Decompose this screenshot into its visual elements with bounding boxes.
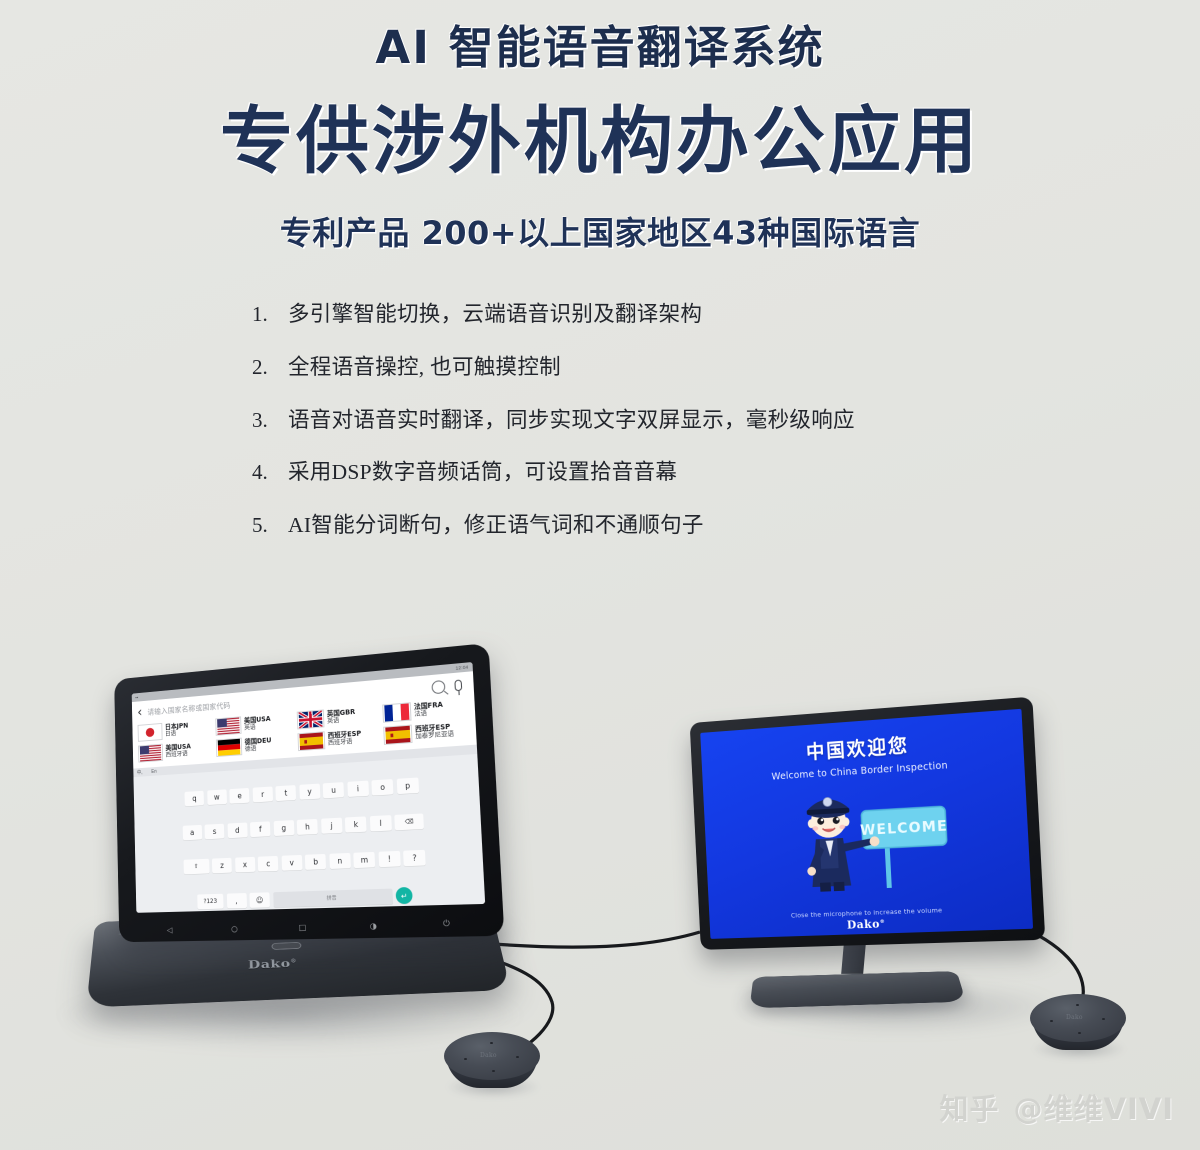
language-name: 法语: [414, 709, 443, 719]
key-y[interactable]: y: [299, 784, 320, 800]
key-b[interactable]: b: [305, 854, 326, 870]
key-e[interactable]: e: [230, 788, 250, 804]
key-p[interactable]: p: [397, 778, 419, 795]
volume-icon[interactable]: ◑: [370, 921, 378, 931]
mic-hole: [1050, 1020, 1053, 1022]
product-photo-stage: Dako® ▪▪ 12:04 ‹ 请输入国家名称或国家代码: [0, 650, 1200, 1150]
mic-hole: [464, 1058, 467, 1060]
microphone-puck[interactable]: Dako: [1030, 994, 1126, 1060]
key-w[interactable]: w: [207, 790, 227, 806]
monitor-screen: 中国欢迎您 Welcome to China Border Inspection…: [700, 709, 1033, 939]
feature-number: 5.: [252, 513, 288, 538]
tablet-body: ▪▪ 12:04 ‹ 请输入国家名称或国家代码: [114, 643, 504, 942]
key-u[interactable]: u: [323, 782, 344, 798]
tablet-screen: ▪▪ 12:04 ‹ 请输入国家名称或国家代码: [132, 662, 485, 913]
list-item: 4. 采用DSP数字音频话筒，可设置拾音音幕: [252, 460, 1042, 486]
key-j[interactable]: j: [321, 818, 342, 834]
back-chevron-icon[interactable]: ‹: [137, 706, 142, 720]
language-name: 西班牙语: [328, 738, 362, 748]
language-name: 德语: [245, 744, 272, 754]
feature-list: 1. 多引擎智能切换，云端语音识别及翻译架构 2. 全程语音操控, 也可触摸控制…: [252, 302, 1042, 539]
flag-de-icon: [216, 738, 242, 757]
feature-text: AI智能分词断句，修正语气词和不通顺句子: [288, 513, 704, 539]
keyboard-row-3: ⇧ z x c v b n m ! ?: [140, 848, 478, 876]
welcome-title-cn: 中国欢迎您: [805, 730, 909, 764]
flag-gb-icon: [297, 709, 325, 729]
key-x[interactable]: x: [235, 857, 255, 873]
mascot-illustration: WELCOME: [767, 775, 959, 896]
flag-es-icon: [383, 725, 412, 745]
home-icon[interactable]: ○: [231, 924, 238, 933]
watermark: 知乎 @维维VIVI: [940, 1086, 1174, 1128]
puck-brand-logo: Dako: [480, 1052, 497, 1059]
key-v[interactable]: v: [281, 855, 302, 871]
list-item[interactable]: 西班牙ESP 加泰罗尼亚语: [382, 719, 471, 746]
mic-hole: [1076, 1004, 1079, 1006]
microphone-puck[interactable]: Dako: [444, 1032, 540, 1098]
list-item: 3. 语音对语音实时翻译，同步实现文字双屏显示，毫秒级响应: [252, 408, 1042, 434]
emoji-key[interactable]: ☺: [249, 892, 269, 908]
language-name: 英语: [327, 716, 356, 726]
mic-hole: [1102, 1018, 1105, 1020]
comma-key[interactable]: ,: [226, 893, 246, 908]
flag-fr-icon: [382, 702, 411, 722]
backspace-key[interactable]: ⌫: [395, 814, 425, 831]
page-subtitle: 专利产品 200+以上国家地区43种国际语言: [0, 208, 1200, 254]
language-name: 西班牙语: [166, 750, 192, 759]
search-actions: [431, 678, 465, 694]
feature-number: 2.: [252, 355, 288, 380]
space-key[interactable]: 拼音: [273, 888, 393, 907]
dock-button[interactable]: [272, 942, 302, 950]
poster-header: AI 智能语音翻译系统 专供涉外机构办公应用 专利产品 200+以上国家地区43…: [0, 0, 1200, 254]
key-t[interactable]: t: [276, 785, 297, 801]
feature-number: 4.: [252, 460, 288, 485]
key-m[interactable]: m: [354, 852, 376, 868]
key-k[interactable]: k: [345, 817, 367, 833]
page-title-hero: 专供涉外机构办公应用: [0, 102, 1200, 182]
back-icon[interactable]: ◁: [167, 925, 173, 934]
flag-us-icon: [215, 716, 241, 735]
language-name: 日语: [165, 730, 188, 739]
list-item[interactable]: 美国USA 西班牙语: [137, 739, 213, 764]
customer-display-monitor: 中国欢迎您 Welcome to China Border Inspection…: [686, 710, 1056, 1010]
status-left-icons: ▪▪: [135, 695, 138, 700]
ime-mode-en[interactable]: En: [151, 768, 157, 774]
dock-brand-logo: Dako®: [248, 957, 298, 971]
key-s[interactable]: s: [205, 824, 225, 840]
monitor-base: [749, 971, 966, 1008]
mic-hole: [492, 1070, 495, 1072]
feature-text: 采用DSP数字音频话筒，可设置拾音音幕: [288, 460, 677, 486]
list-item: 2. 全程语音操控, 也可触摸控制: [252, 355, 1042, 381]
translator-tablet: Dako® ▪▪ 12:04 ‹ 请输入国家名称或国家代码: [92, 660, 512, 1020]
list-item[interactable]: 西班牙ESP 西班牙语: [296, 726, 381, 752]
mic-hole: [490, 1042, 493, 1044]
language-name: 加泰罗尼亚语: [415, 731, 454, 742]
shift-key[interactable]: ⇧: [183, 859, 209, 875]
watermark-platform: 知乎: [940, 1086, 1000, 1128]
key-a[interactable]: a: [182, 825, 201, 841]
microphone-icon[interactable]: [454, 679, 462, 691]
list-item: 5. AI智能分词断句，修正语气词和不通顺句子: [252, 513, 1042, 539]
key-l[interactable]: l: [370, 815, 392, 831]
tablet-nav-bar: ◁ ○ □ ◑ ⏻: [138, 918, 484, 935]
search-icon[interactable]: [431, 679, 445, 693]
onscreen-keyboard: 中, En q w e r t y u i o p: [133, 745, 485, 913]
feature-text: 语音对语音实时翻译，同步实现文字双屏显示，毫秒级响应: [288, 408, 855, 434]
keyboard-row-1: q w e r t y u i o p: [138, 775, 474, 810]
feature-text: 多引擎智能切换，云端语音识别及翻译架构: [288, 302, 702, 328]
keyboard-row-2: a s d f g h j k l ⌫: [139, 811, 476, 843]
key-o[interactable]: o: [372, 779, 394, 796]
language-name: 英语: [244, 723, 271, 733]
numeric-key[interactable]: ?123: [197, 893, 223, 909]
feature-number: 3.: [252, 408, 288, 433]
key-exclaim[interactable]: !: [378, 851, 400, 867]
list-item[interactable]: 德国DEU 德语: [215, 733, 295, 758]
key-n[interactable]: n: [329, 853, 351, 869]
ime-mode-cn[interactable]: 中,: [137, 769, 143, 776]
enter-key[interactable]: ↵: [395, 887, 412, 904]
monitor-body: 中国欢迎您 Welcome to China Border Inspection…: [690, 697, 1046, 950]
feature-text: 全程语音操控, 也可触摸控制: [288, 355, 561, 381]
puck-top: Dako: [1030, 994, 1126, 1042]
key-g[interactable]: g: [273, 820, 294, 836]
status-time: 12:04: [455, 664, 468, 670]
keyboard-row-4: ?123 , ☺ 拼音 ↵: [140, 885, 479, 911]
key-h[interactable]: h: [297, 819, 318, 835]
mic-hole: [1078, 1032, 1081, 1034]
key-d[interactable]: d: [227, 823, 247, 839]
power-icon[interactable]: ⏻: [443, 919, 450, 930]
mic-hole: [516, 1056, 519, 1058]
feature-number: 1.: [252, 302, 288, 327]
flag-us-icon: [138, 744, 163, 763]
key-q[interactable]: q: [185, 791, 204, 807]
flag-es-icon: [297, 731, 325, 751]
list-item: 1. 多引擎智能切换，云端语音识别及翻译架构: [252, 302, 1042, 328]
flag-jp-icon: [138, 723, 163, 742]
watermark-handle: @维维VIVI: [1014, 1086, 1174, 1128]
key-r[interactable]: r: [252, 787, 272, 803]
puck-top: Dako: [444, 1032, 540, 1080]
key-i[interactable]: i: [347, 781, 369, 797]
key-c[interactable]: c: [258, 856, 279, 872]
key-z[interactable]: z: [212, 858, 232, 874]
puck-brand-logo: Dako: [1066, 1014, 1083, 1021]
key-f[interactable]: f: [250, 822, 270, 838]
page-title-main: AI 智能语音翻译系统: [0, 22, 1200, 74]
recents-icon[interactable]: □: [299, 922, 307, 931]
key-question[interactable]: ?: [403, 850, 426, 866]
